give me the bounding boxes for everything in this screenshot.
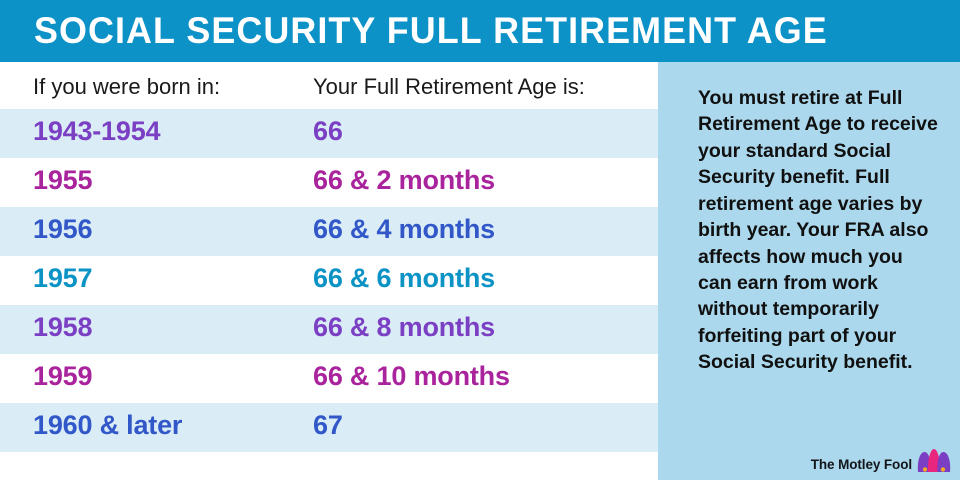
logo-text: The Motley Fool — [811, 458, 912, 473]
jester-hat-icon — [916, 448, 952, 472]
cell-birth-year: 1943-1954 — [33, 116, 160, 147]
cell-birth-year: 1960 & later — [33, 410, 182, 441]
table-row: 1958 66 & 8 months — [0, 305, 658, 354]
cell-retirement-age: 66 & 8 months — [313, 312, 495, 343]
cell-birth-year: 1959 — [33, 361, 92, 392]
cell-retirement-age: 66 & 2 months — [313, 165, 495, 196]
jester-hat-svg — [916, 448, 952, 472]
cell-birth-year: 1957 — [33, 263, 92, 294]
cell-birth-year: 1956 — [33, 214, 92, 245]
cell-retirement-age: 67 — [313, 410, 343, 441]
infographic-root: SOCIAL SECURITY FULL RETIREMENT AGE If y… — [0, 0, 960, 480]
cell-retirement-age: 66 & 6 months — [313, 263, 495, 294]
cell-retirement-age: 66 — [313, 116, 343, 147]
table-row: 1960 & later 67 — [0, 403, 658, 452]
page-title: SOCIAL SECURITY FULL RETIREMENT AGE — [34, 10, 828, 52]
table-row: 1943-1954 66 — [0, 109, 658, 158]
cell-birth-year: 1955 — [33, 165, 92, 196]
table-row: 1956 66 & 4 months — [0, 207, 658, 256]
cell-retirement-age: 66 & 4 months — [313, 214, 495, 245]
retirement-age-table: If you were born in: Your Full Retiremen… — [0, 62, 658, 480]
sidebar-note-text: You must retire at Full Retirement Age t… — [698, 85, 938, 376]
cell-birth-year: 1958 — [33, 312, 92, 343]
table-row: 1955 66 & 2 months — [0, 158, 658, 207]
body-area: If you were born in: Your Full Retiremen… — [0, 62, 960, 480]
column-header-birth-year: If you were born in: — [33, 74, 220, 100]
sidebar-note-panel: You must retire at Full Retirement Age t… — [658, 62, 960, 480]
column-header-retirement-age: Your Full Retirement Age is: — [313, 74, 585, 100]
motley-fool-logo: The Motley Fool — [811, 448, 952, 472]
table-row: 1959 66 & 10 months — [0, 354, 658, 403]
header-banner: SOCIAL SECURITY FULL RETIREMENT AGE — [0, 0, 960, 62]
cell-retirement-age: 66 & 10 months — [313, 361, 510, 392]
table-header-row: If you were born in: Your Full Retiremen… — [0, 62, 658, 109]
table-row: 1957 66 & 6 months — [0, 256, 658, 305]
